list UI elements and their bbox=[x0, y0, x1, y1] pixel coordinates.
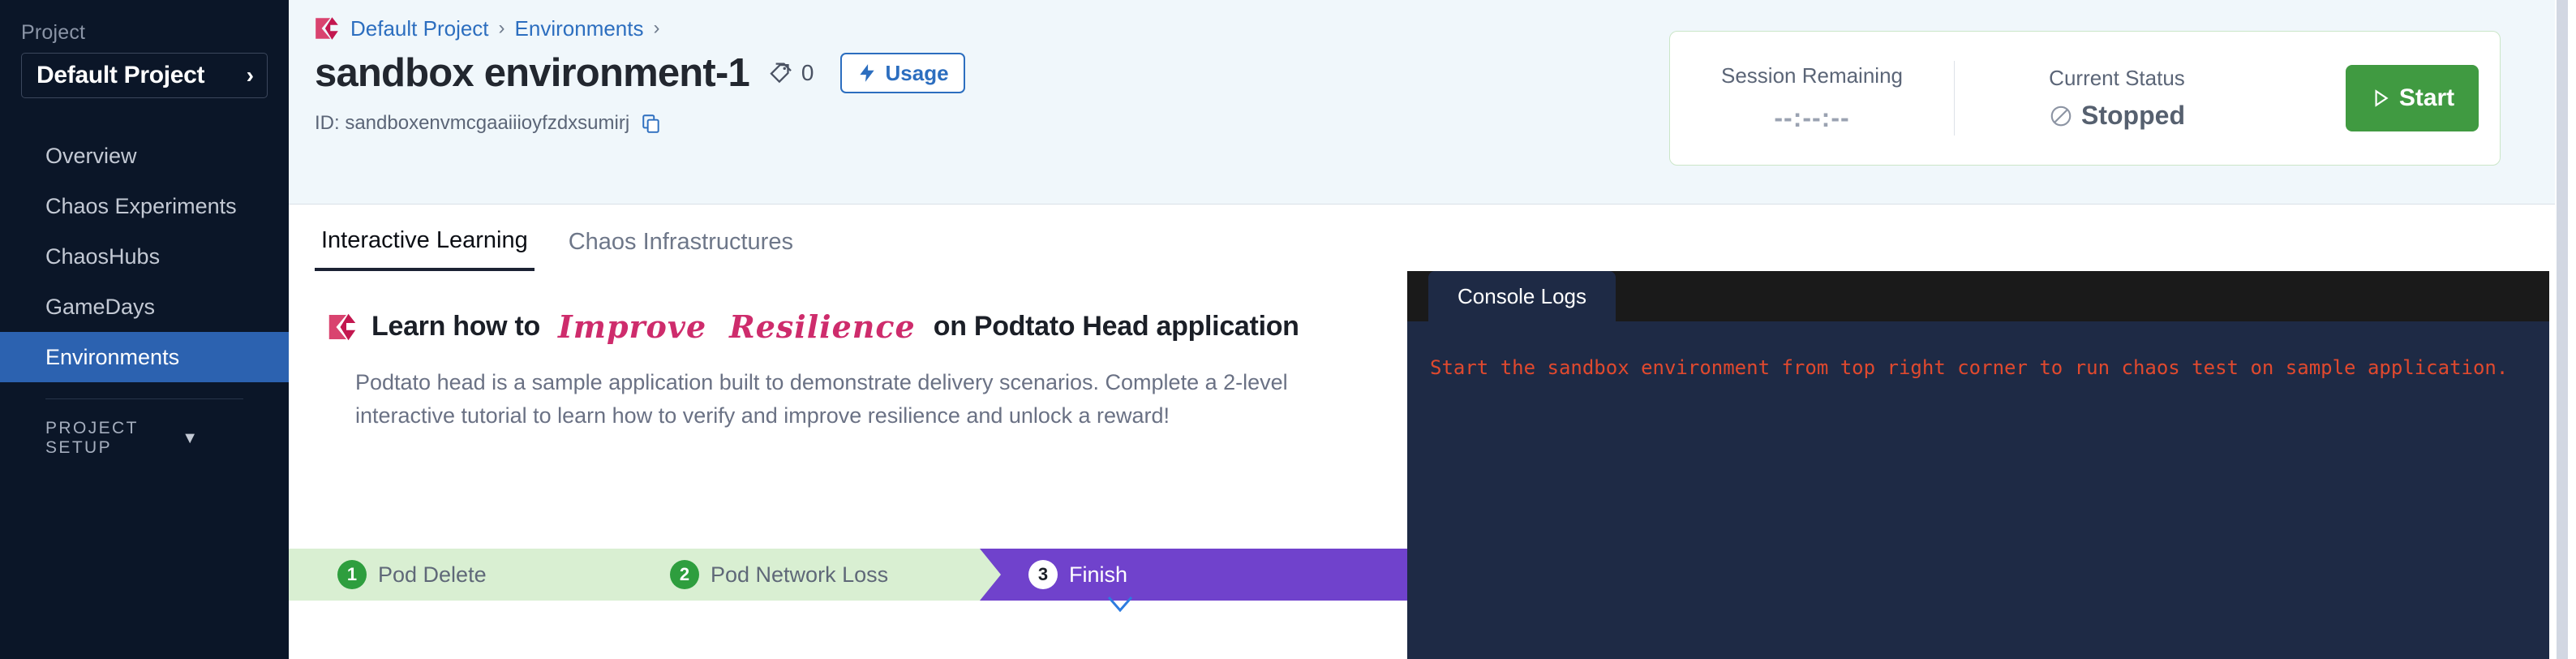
step-label: Pod Network Loss bbox=[711, 562, 888, 588]
sidebar-item-chaoshubs[interactable]: ChaosHubs bbox=[0, 231, 289, 282]
console-tab-bar: Console Logs bbox=[1407, 271, 2549, 321]
sidebar-item-label: Chaos Experiments bbox=[45, 194, 237, 219]
console-panel: Console Logs Start the sandbox environme… bbox=[1407, 271, 2549, 659]
sidebar-item-overview[interactable]: Overview bbox=[0, 131, 289, 181]
environment-id-row: ID: sandboxenvmcgaaiiioyfzdxsumirj bbox=[315, 112, 662, 135]
interactive-learning-panel: Learn how to Improve Resilience on Podta… bbox=[289, 271, 1407, 659]
sidebar-item-gamedays[interactable]: GameDays bbox=[0, 282, 289, 332]
start-button-label: Start bbox=[2399, 84, 2454, 112]
copy-icon[interactable] bbox=[641, 113, 662, 134]
tag-count-group[interactable]: 0 bbox=[767, 59, 814, 87]
console-log-output[interactable]: Start the sandbox environment from top r… bbox=[1407, 321, 2549, 659]
play-icon bbox=[2370, 88, 2391, 109]
sidebar-project-label: Project bbox=[0, 21, 289, 53]
tag-count: 0 bbox=[801, 60, 814, 86]
sidebar: Project Default Project › Overview Chaos… bbox=[0, 0, 289, 659]
step-label: Pod Delete bbox=[378, 562, 487, 588]
project-selector-name: Default Project bbox=[36, 62, 204, 89]
step-finish[interactable]: 3 Finish bbox=[980, 549, 1407, 601]
current-status: Current Status Stopped bbox=[1955, 66, 2279, 131]
sidebar-item-label: Environments bbox=[45, 345, 179, 370]
content-area: Default Project › Environments › sandbox… bbox=[289, 0, 2576, 659]
current-status-label: Current Status bbox=[1955, 66, 2279, 91]
sidebar-divider bbox=[45, 398, 243, 399]
page-title: sandbox environment-1 bbox=[315, 50, 749, 96]
tab-label: Interactive Learning bbox=[321, 227, 528, 254]
tab-chaos-infrastructures[interactable]: Chaos Infrastructures bbox=[562, 213, 800, 271]
usage-button-label: Usage bbox=[886, 61, 949, 86]
log-line: Start the sandbox environment from top r… bbox=[1430, 351, 2535, 385]
step-label: Finish bbox=[1069, 562, 1127, 588]
status-badge: Stopped bbox=[1955, 101, 2279, 131]
tab-interactive-learning[interactable]: Interactive Learning bbox=[315, 213, 535, 271]
breadcrumb-link-environments[interactable]: Environments bbox=[515, 16, 644, 41]
chevron-down-icon: ▼ bbox=[182, 429, 198, 448]
title-row: sandbox environment-1 0 Usage bbox=[315, 50, 965, 96]
breadcrumb-separator: › bbox=[654, 17, 660, 40]
session-remaining-value: --:--:-- bbox=[1670, 103, 1954, 133]
breadcrumb-separator: › bbox=[499, 17, 505, 40]
console-tab-label: Console Logs bbox=[1458, 284, 1586, 309]
learn-heading-row: Learn how to Improve Resilience on Podta… bbox=[289, 271, 1407, 345]
session-card: Session Remaining --:--:-- Current Statu… bbox=[1669, 31, 2501, 166]
scrollbar-thumb[interactable] bbox=[2557, 0, 2568, 659]
learn-heading-resilience: Resilience bbox=[724, 308, 921, 345]
project-selector[interactable]: Default Project › bbox=[21, 53, 268, 98]
step-pod-delete[interactable]: 1 Pod Delete bbox=[289, 549, 621, 601]
tab-bar: Interactive Learning Chaos Infrastructur… bbox=[289, 205, 2559, 271]
learn-description: Podtato head is a sample application bui… bbox=[289, 345, 1359, 432]
usage-button[interactable]: Usage bbox=[840, 53, 965, 93]
scrollbar-gutter bbox=[2555, 0, 2576, 659]
learn-heading-improve: Improve bbox=[553, 308, 711, 345]
session-remaining: Session Remaining --:--:-- bbox=[1670, 63, 1954, 133]
step-number: 2 bbox=[670, 560, 699, 589]
step-number: 3 bbox=[1028, 560, 1058, 589]
chevron-down-icon bbox=[1104, 594, 1136, 617]
sidebar-section-label: PROJECT SETUP bbox=[45, 419, 182, 458]
harness-logo-icon bbox=[326, 311, 358, 343]
step-pod-network-loss[interactable]: 2 Pod Network Loss bbox=[621, 549, 980, 601]
current-status-value: Stopped bbox=[2081, 101, 2185, 131]
tab-console-logs[interactable]: Console Logs bbox=[1428, 271, 1616, 321]
breadcrumb-link-project[interactable]: Default Project bbox=[350, 16, 489, 41]
step-number: 1 bbox=[337, 560, 367, 589]
start-button[interactable]: Start bbox=[2346, 65, 2479, 131]
sidebar-item-chaos-experiments[interactable]: Chaos Experiments bbox=[0, 181, 289, 231]
page-header: Default Project › Environments › sandbox… bbox=[289, 0, 2559, 205]
session-remaining-label: Session Remaining bbox=[1670, 63, 1954, 88]
app-root: Project Default Project › Overview Chaos… bbox=[0, 0, 2576, 659]
tab-label: Chaos Infrastructures bbox=[569, 229, 793, 256]
environment-id: ID: sandboxenvmcgaaiiioyfzdxsumirj bbox=[315, 112, 629, 135]
tutorial-steps: 1 Pod Delete 2 Pod Network Loss 3 Finish bbox=[289, 549, 1407, 601]
sidebar-item-label: GameDays bbox=[45, 295, 155, 320]
breadcrumb: Default Project › Environments › bbox=[313, 15, 660, 42]
sidebar-section-project-setup[interactable]: PROJECT SETUP ▼ bbox=[0, 419, 243, 458]
learn-heading-post: on Podtato Head application bbox=[934, 311, 1299, 342]
sidebar-item-environments[interactable]: Environments bbox=[0, 332, 289, 382]
lightning-icon bbox=[857, 62, 878, 84]
sidebar-item-label: Overview bbox=[45, 144, 137, 169]
sidebar-nav: Overview Chaos Experiments ChaosHubs Gam… bbox=[0, 131, 289, 382]
learn-heading-pre: Learn how to bbox=[371, 311, 540, 342]
sidebar-item-label: ChaosHubs bbox=[45, 244, 160, 269]
tags-icon bbox=[767, 59, 795, 87]
harness-logo-icon bbox=[313, 15, 341, 42]
stopped-icon bbox=[2049, 104, 2073, 128]
chevron-right-icon: › bbox=[247, 64, 254, 87]
